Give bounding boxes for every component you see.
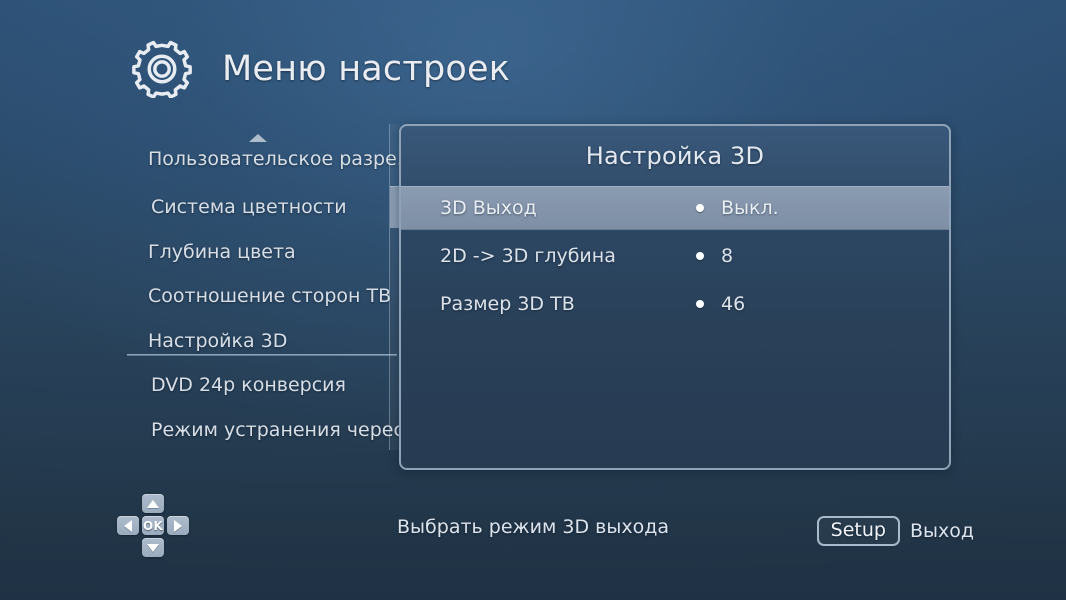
sidebar-item-dvd-24p-conversion[interactable]: DVD 24p конверсия xyxy=(127,368,389,402)
triangle-up-icon[interactable] xyxy=(249,134,267,142)
sidebar-divider xyxy=(127,354,397,356)
panel-row-label: 2D -> 3D глубина xyxy=(440,245,616,267)
panel-row-value: 8 xyxy=(721,245,733,267)
sidebar-item-label: Глубина цвета xyxy=(148,241,296,263)
settings-sidebar: Пользовательское разре... Система цветно… xyxy=(127,128,399,450)
panel-row-label: 3D Выход xyxy=(440,197,537,219)
panel-row-2d-to-3d-depth[interactable]: 2D -> 3D глубина 8 xyxy=(401,234,949,278)
panel-row-label: Размер 3D ТВ xyxy=(440,293,575,315)
settings-menu-screen: Меню настроек Пользовательское разре... … xyxy=(0,0,1066,600)
bullet-icon xyxy=(696,204,704,212)
bullet-icon xyxy=(696,252,704,260)
panel-row-value: 46 xyxy=(721,293,745,315)
triangle-up-icon xyxy=(147,500,159,508)
triangle-down-icon xyxy=(147,544,159,552)
page-title: Меню настроек xyxy=(222,49,510,89)
exit-label: Выход xyxy=(910,520,974,542)
dpad-up-button[interactable] xyxy=(142,494,164,513)
sidebar-item-label: Настройка 3D xyxy=(148,330,287,352)
sidebar-item-color-depth[interactable]: Глубина цвета xyxy=(127,235,389,269)
gear-icon xyxy=(128,37,196,101)
sidebar-item-label: Режим устранения черес... xyxy=(151,419,422,441)
exit-hint-group: Setup Выход xyxy=(817,516,974,546)
panel-row-3d-output[interactable]: 3D Выход Выкл. xyxy=(401,186,949,230)
sidebar-item-label: Система цветности xyxy=(151,196,347,218)
page-header: Меню настроек xyxy=(128,36,510,102)
sidebar-item-custom-resolution[interactable]: Пользовательское разре... xyxy=(127,142,389,176)
panel-title: Настройка 3D xyxy=(401,126,949,186)
dpad-down-button[interactable] xyxy=(142,538,164,557)
sidebar-item-3d-setup[interactable]: Настройка 3D xyxy=(127,324,389,358)
panel-row-value: Выкл. xyxy=(721,197,779,219)
sidebar-item-label: DVD 24p конверсия xyxy=(151,374,346,396)
sidebar-item-color-system[interactable]: Система цветности xyxy=(127,190,389,224)
sidebar-item-tv-aspect-ratio[interactable]: Соотношение сторон ТВ xyxy=(127,279,389,313)
sidebar-item-label: Соотношение сторон ТВ xyxy=(148,285,391,307)
bullet-icon xyxy=(696,300,704,308)
panel-row-3d-tv-size[interactable]: Размер 3D ТВ 46 xyxy=(401,282,949,326)
sidebar-item-label: Пользовательское разре... xyxy=(148,148,415,170)
sidebar-item-deinterlace-mode[interactable]: Режим устранения черес... xyxy=(127,413,389,447)
setup-key-button[interactable]: Setup xyxy=(817,516,900,546)
settings-panel: Настройка 3D 3D Выход Выкл. 2D -> 3D глу… xyxy=(399,124,951,470)
